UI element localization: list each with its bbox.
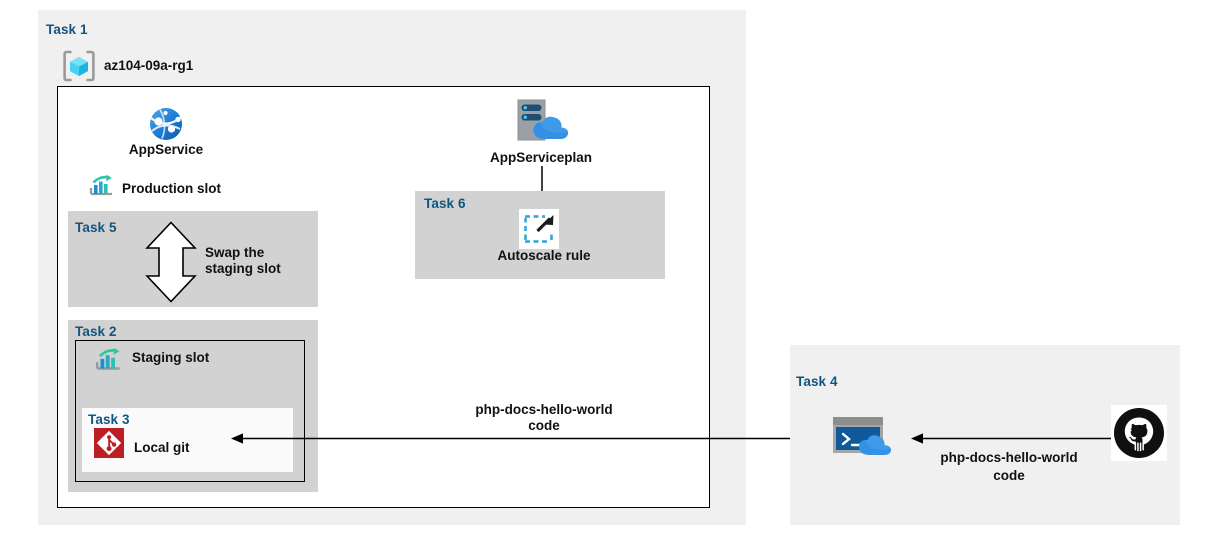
task2-label: Task 2 <box>75 324 117 339</box>
git-logo-icon <box>94 428 124 458</box>
appservice-label: AppService <box>106 142 226 158</box>
app-service-plan-icon <box>513 98 571 144</box>
production-slot-label: Production slot <box>122 181 221 197</box>
task5-action-line1: Swap the <box>205 245 264 261</box>
task5-label: Task 5 <box>75 220 117 235</box>
resource-group-cube-icon <box>62 50 96 82</box>
task4-label: Task 4 <box>796 374 838 389</box>
autoscale-rule-label: Autoscale rule <box>459 248 629 264</box>
arrow-left-icon-github-to-cloudshell <box>908 430 1113 448</box>
arrow-left-icon-cloudshell-to-localgit <box>228 430 793 448</box>
swap-double-arrow-icon <box>144 221 198 303</box>
cloud-shell-icon <box>833 417 899 459</box>
resource-group-name: az104-09a-rg1 <box>104 58 193 74</box>
task1-label: Task 1 <box>46 22 88 37</box>
deployment-slot-icon-production <box>88 174 116 200</box>
task5-action-line2: staging slot <box>205 261 281 277</box>
github-to-cloudshell-label-line1: php-docs-hello-world <box>908 450 1110 466</box>
autoscale-rule-icon <box>519 209 559 249</box>
local-git-label: Local git <box>134 440 190 456</box>
github-to-cloudshell-label-line2: code <box>908 468 1110 484</box>
github-octocat-icon <box>1111 405 1167 461</box>
deployment-slot-icon-staging <box>94 347 124 375</box>
staging-slot-label: Staging slot <box>132 350 209 366</box>
diagram-canvas: Task 1 az104-09a-rg1 <box>0 0 1218 545</box>
app-service-globe-icon <box>146 104 186 144</box>
cloudshell-to-localgit-label-line1: php-docs-hello-world <box>444 402 644 418</box>
appserviceplan-label: AppServiceplan <box>461 150 621 166</box>
task6-label: Task 6 <box>424 196 466 211</box>
task3-label: Task 3 <box>88 412 130 427</box>
